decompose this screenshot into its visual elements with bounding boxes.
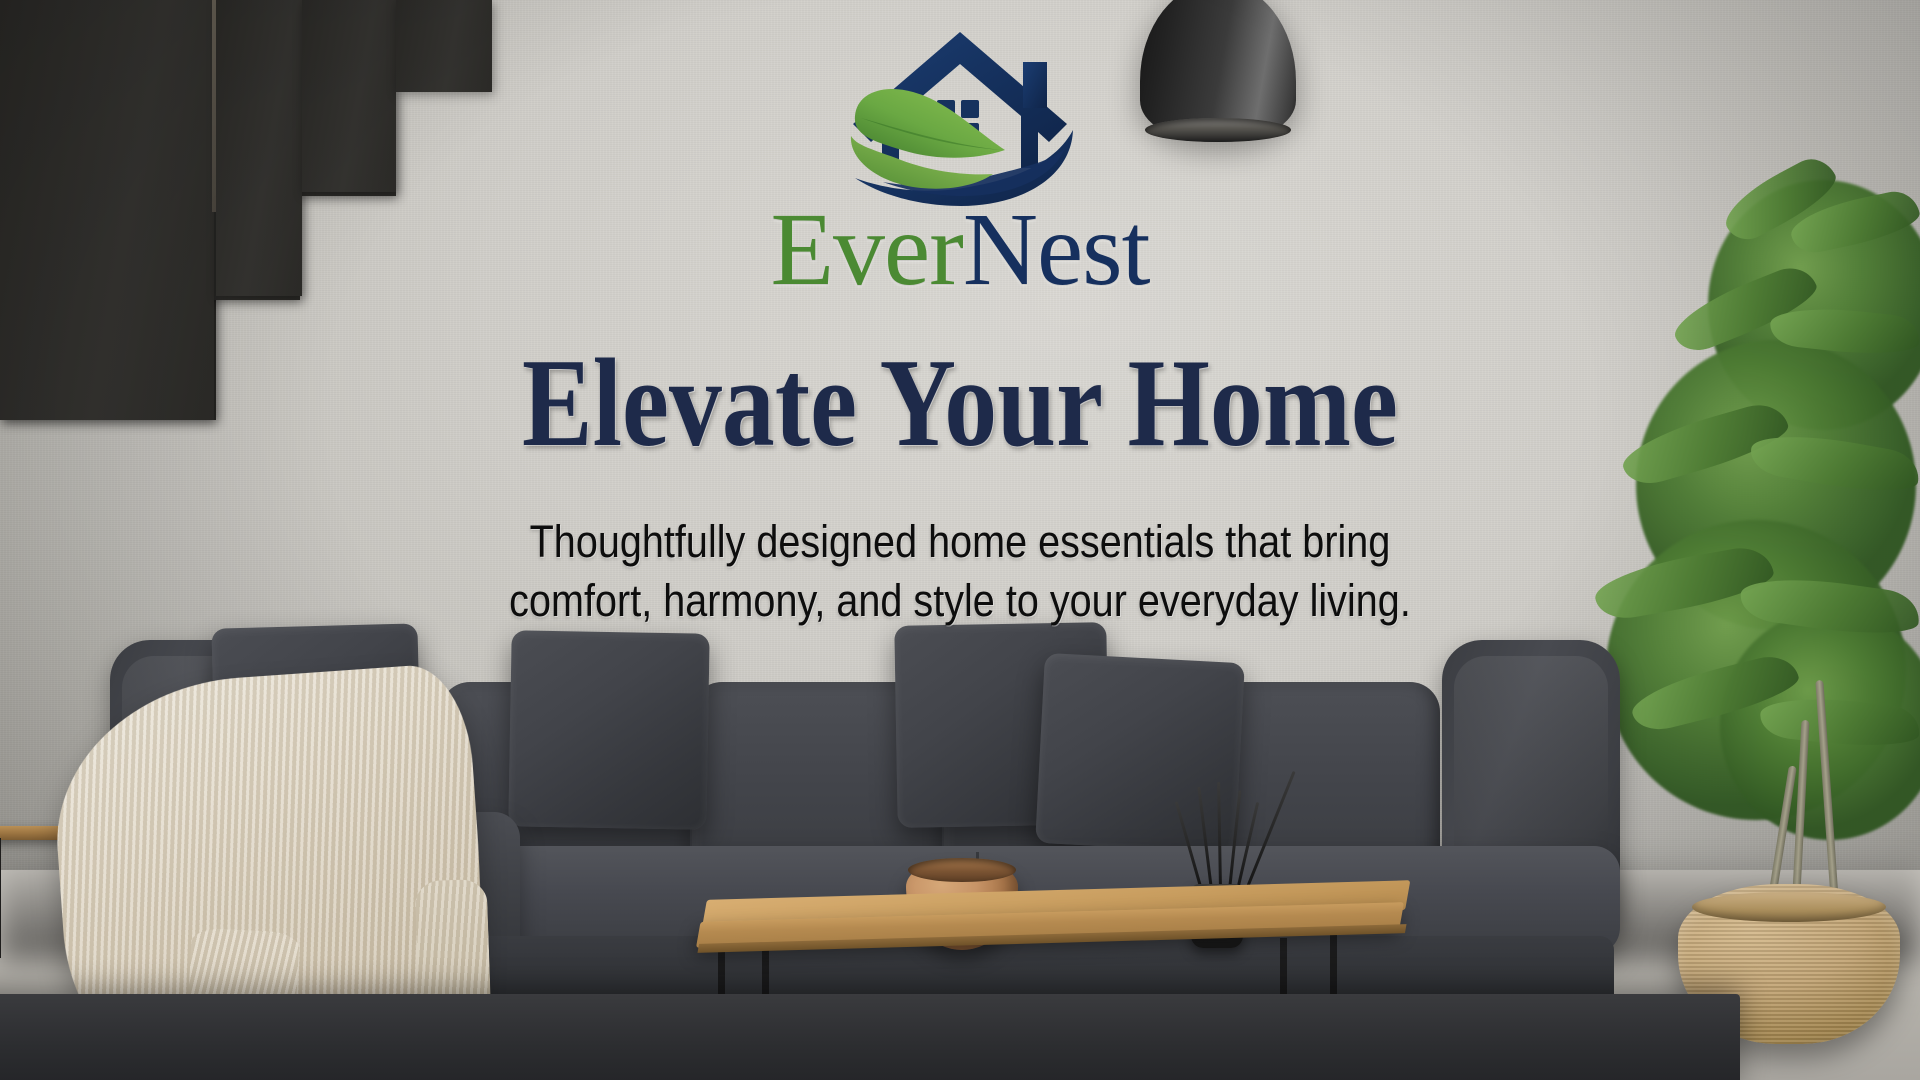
subtitle-line-1: Thoughtfully designed home essentials th…: [509, 513, 1411, 572]
brand-wordmark: EverNest: [771, 198, 1150, 302]
house-leaf-logo-icon: [835, 18, 1085, 208]
subtitle-line-2: comfort, harmony, and style to your ever…: [509, 572, 1411, 631]
wordmark-nest: Nest: [963, 192, 1150, 307]
hero-subtitle: Thoughtfully designed home essentials th…: [509, 513, 1411, 630]
hero-banner: EverNest Elevate Your Home Thoughtfully …: [0, 0, 1920, 1080]
wordmark-ever: Ever: [771, 192, 963, 307]
hero-content: EverNest Elevate Your Home Thoughtfully …: [0, 0, 1920, 1080]
hero-headline: Elevate Your Home: [522, 338, 1398, 469]
